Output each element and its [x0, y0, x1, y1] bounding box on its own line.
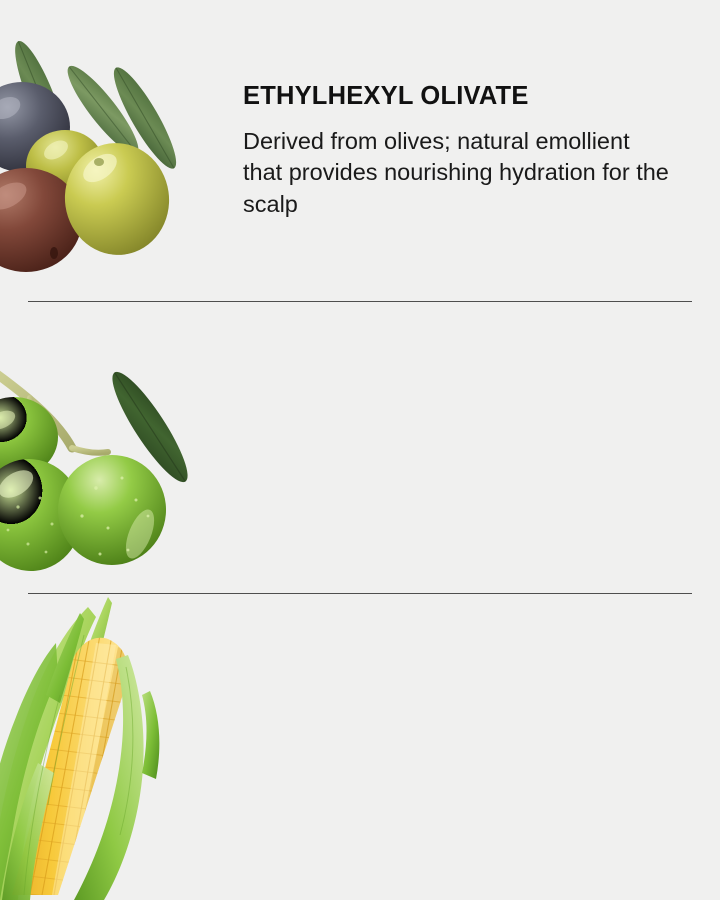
ingredient-section-squalane: SQUALANE A powerful plant-derived natura…	[0, 302, 720, 593]
corn-cob-illustration	[0, 595, 232, 900]
green-olives-illustration	[0, 302, 232, 593]
ingredient-image-corn-cob	[0, 595, 232, 900]
ingredient-description: Derived from olives; natural emollient t…	[243, 126, 673, 220]
section-divider	[28, 593, 692, 594]
ingredient-title: ETHYLHEXYL OLIVATE	[243, 82, 673, 110]
ingredient-section-ethylhexyl-olivate: ETHYLHEXYL OLIVATE Derived from olives; …	[0, 0, 720, 300]
mixed-olives-illustration	[0, 0, 232, 300]
ingredient-section-propanediol-caprylate: PROPANEDIOL CAPRYLATE A naturally-derive…	[0, 595, 720, 900]
ingredient-image-mixed-olives	[0, 0, 232, 300]
ingredient-copy-block: ETHYLHEXYL OLIVATE Derived from olives; …	[243, 82, 673, 220]
ingredient-image-green-olives	[0, 302, 232, 593]
